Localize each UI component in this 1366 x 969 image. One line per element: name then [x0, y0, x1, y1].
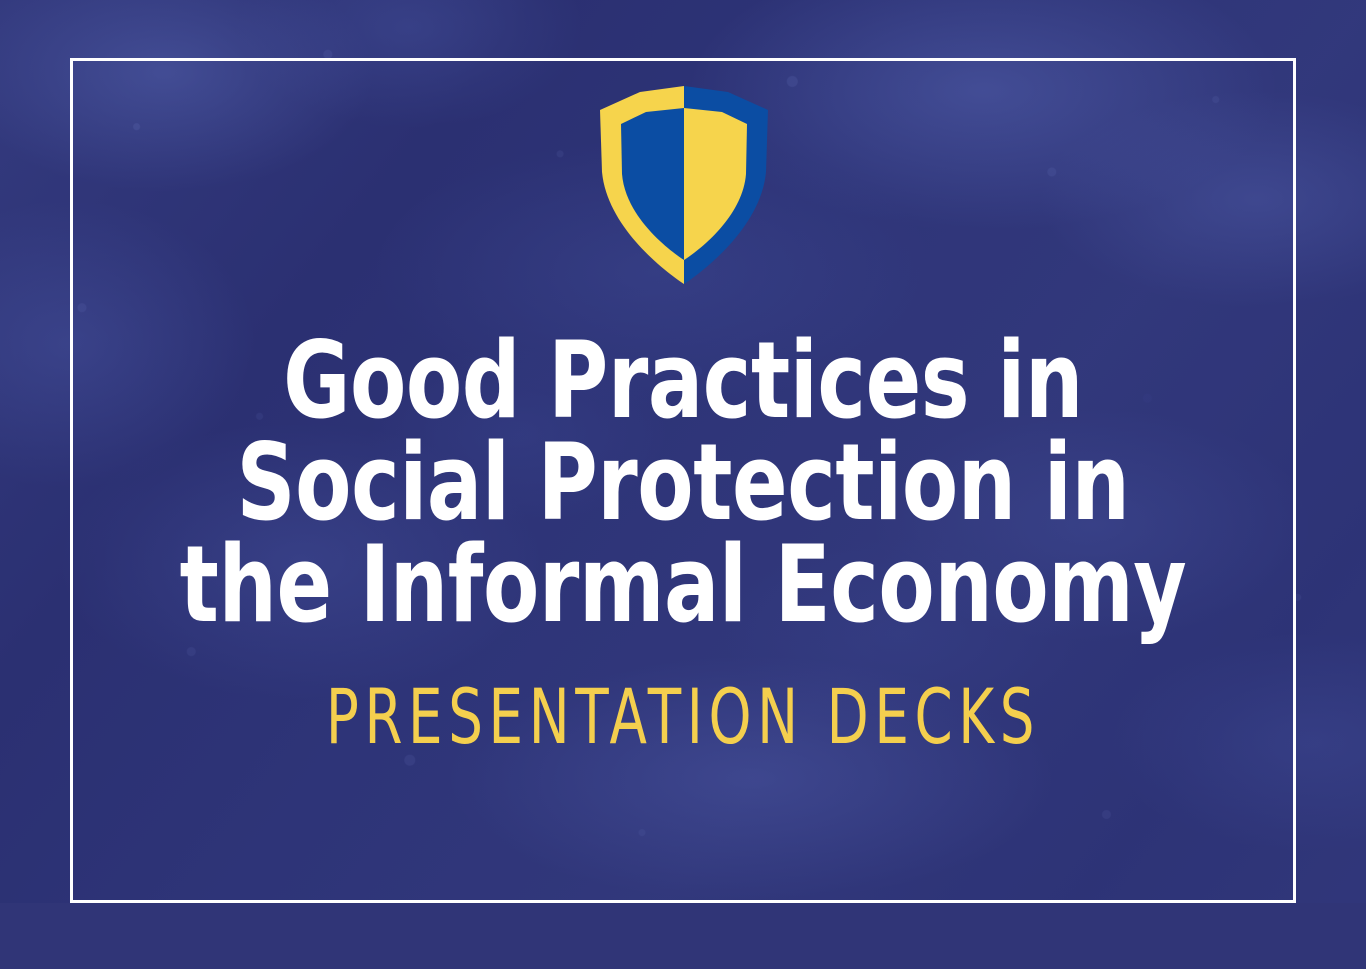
title-slide: Good Practices in Social Protection in t…	[0, 0, 1366, 969]
slide-content: Good Practices in Social Protection in t…	[0, 330, 1366, 755]
title-line-1: Good Practices in	[96, 330, 1271, 432]
background-footer-band	[0, 903, 1366, 969]
title-line-3: the Informal Economy	[96, 534, 1271, 636]
title-line-2: Social Protection in	[96, 432, 1271, 534]
slide-subtitle: PRESENTATION DECKS	[137, 635, 1230, 755]
page-title: Good Practices in Social Protection in t…	[96, 330, 1271, 635]
shield-logo	[594, 84, 774, 286]
